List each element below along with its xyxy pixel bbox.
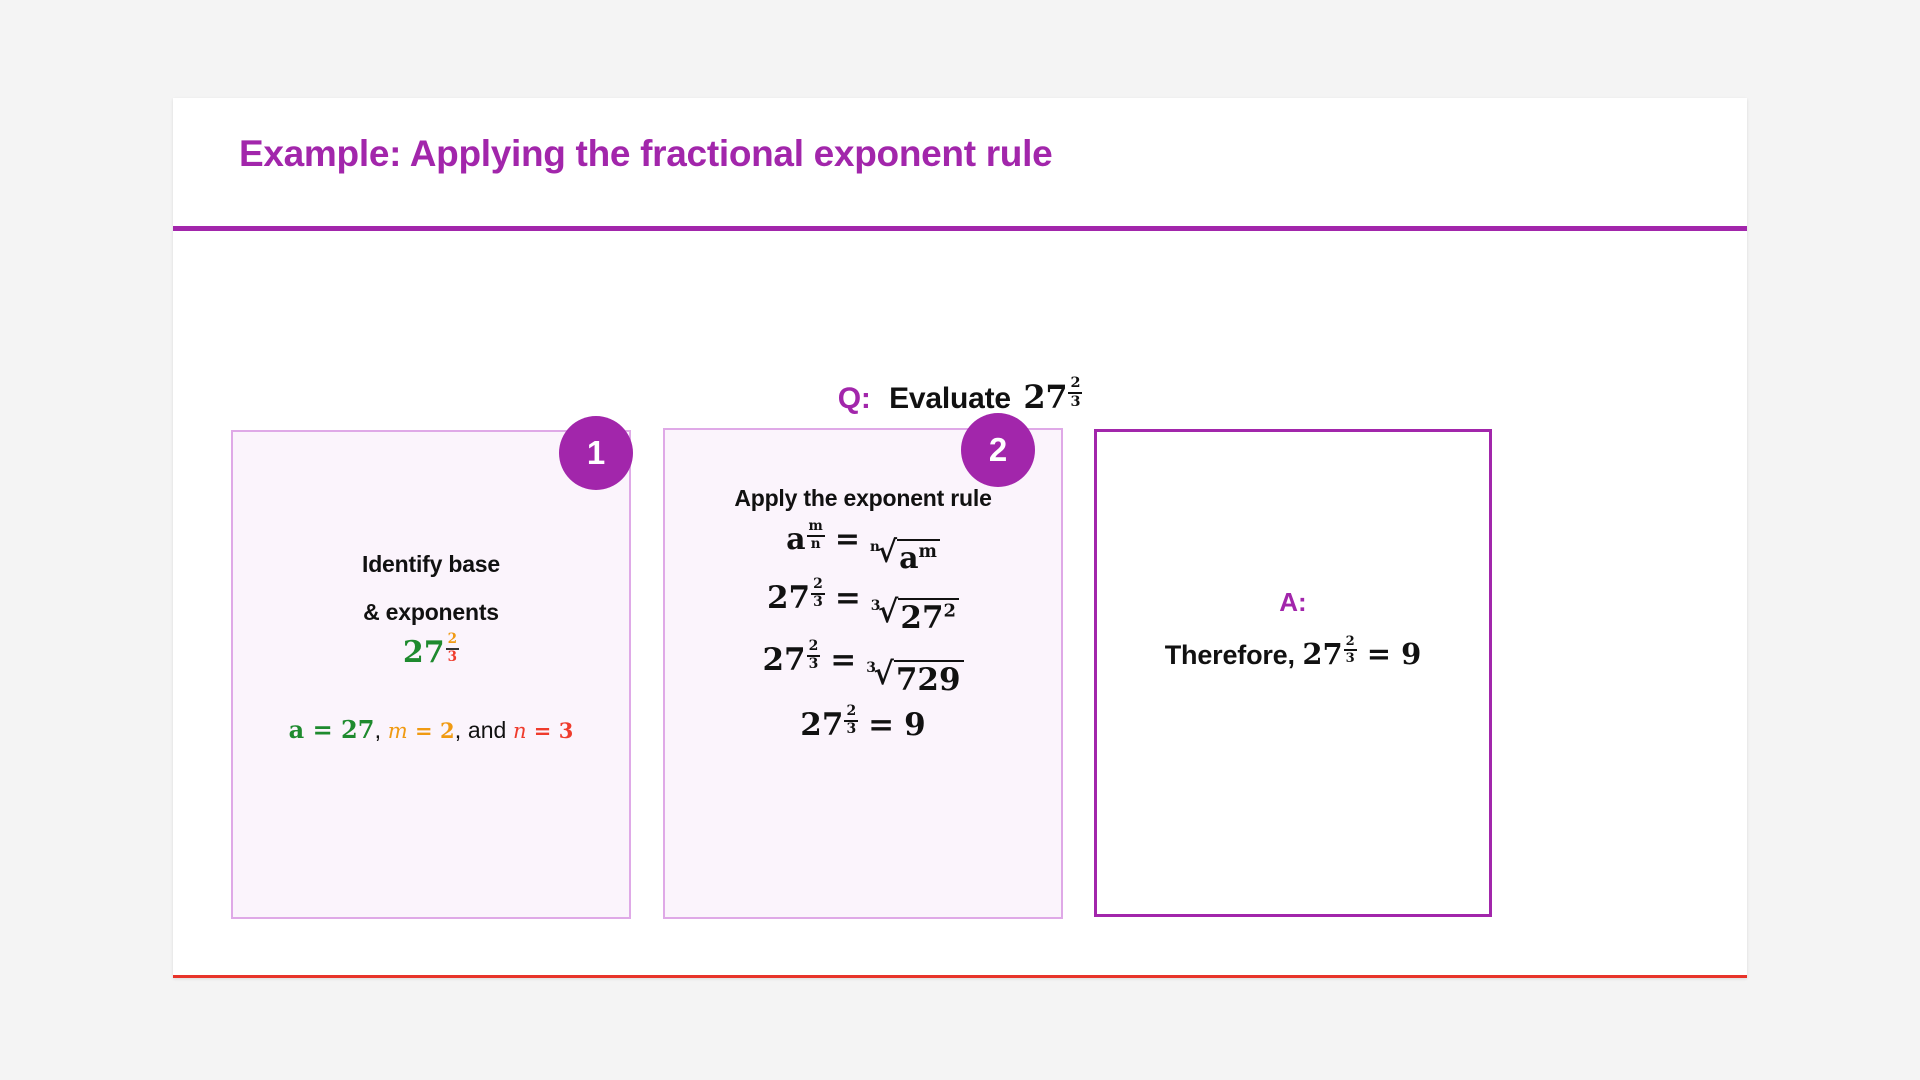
- step-1-value-m: m = 2: [388, 718, 455, 743]
- rule-base: a: [786, 522, 805, 557]
- step-badge-1: 1: [559, 416, 633, 490]
- radical-sign-icon: √: [878, 597, 898, 628]
- equation-2-radical: 3√729: [866, 660, 963, 697]
- step-2-equation-3: 2723=9: [665, 707, 1061, 743]
- step-1-heading-line2: & exponents: [233, 599, 629, 626]
- step-2-heading: Apply the exponent rule: [665, 485, 1061, 512]
- answer-label: A:: [1097, 587, 1489, 618]
- answer-expression: 2723=9: [1302, 637, 1421, 671]
- step-2-equation-2: 2723=3√729: [665, 642, 1061, 697]
- answer-statement: Therefore, 2723=9: [1097, 637, 1489, 671]
- step-2-rule: amn=n√am: [665, 522, 1061, 575]
- step-card-2: Apply the exponent rule amn=n√am 2723=3√…: [663, 428, 1063, 919]
- equation-1-radical: 3√272: [871, 598, 959, 635]
- step-2-equation-1: 2723=3√272: [665, 580, 1061, 635]
- answer-prefix: Therefore,: [1165, 640, 1295, 670]
- answer-card-content: A: Therefore, 2723=9: [1097, 432, 1489, 914]
- step-1-comma-2: ,: [455, 717, 462, 744]
- step-badge-2: 2: [961, 413, 1035, 487]
- step-card-1-content: Identify base & exponents 2723 a = 27, m…: [233, 432, 629, 917]
- steps-row: Identify base & exponents 2723 a = 27, m…: [173, 98, 1747, 978]
- step-1-expression: 2723: [233, 635, 629, 670]
- slide-container: Example: Applying the fractional exponen…: [173, 98, 1747, 978]
- step-card-2-content: Apply the exponent rule amn=n√am 2723=3√…: [665, 430, 1061, 917]
- rule-fraction: mn: [807, 520, 825, 551]
- step-2-result: 9: [904, 707, 926, 743]
- step-1-expression-base: 27: [403, 635, 445, 670]
- radical-sign-icon: √: [877, 538, 897, 568]
- step-1-heading-line1: Identify base: [233, 551, 629, 578]
- answer-result: 9: [1401, 637, 1421, 671]
- rule-radical: n√am: [870, 539, 940, 575]
- step-1-value-a: a = 27: [289, 715, 375, 744]
- step-card-1: Identify base & exponents 2723 a = 27, m…: [231, 430, 631, 919]
- step-1-expression-fraction: 23: [446, 633, 459, 664]
- step-1-conjunction: and: [468, 717, 506, 743]
- step-1-value-n: n = 3: [513, 718, 573, 743]
- radical-sign-icon: √: [873, 659, 893, 690]
- step-1-comma-1: ,: [374, 717, 381, 744]
- answer-card: A: Therefore, 2723=9: [1094, 429, 1492, 917]
- rule-equals: =: [835, 522, 860, 557]
- slide-bottom-rule: [173, 975, 1747, 978]
- step-1-values: a = 27, m = 2, and n = 3: [233, 715, 629, 745]
